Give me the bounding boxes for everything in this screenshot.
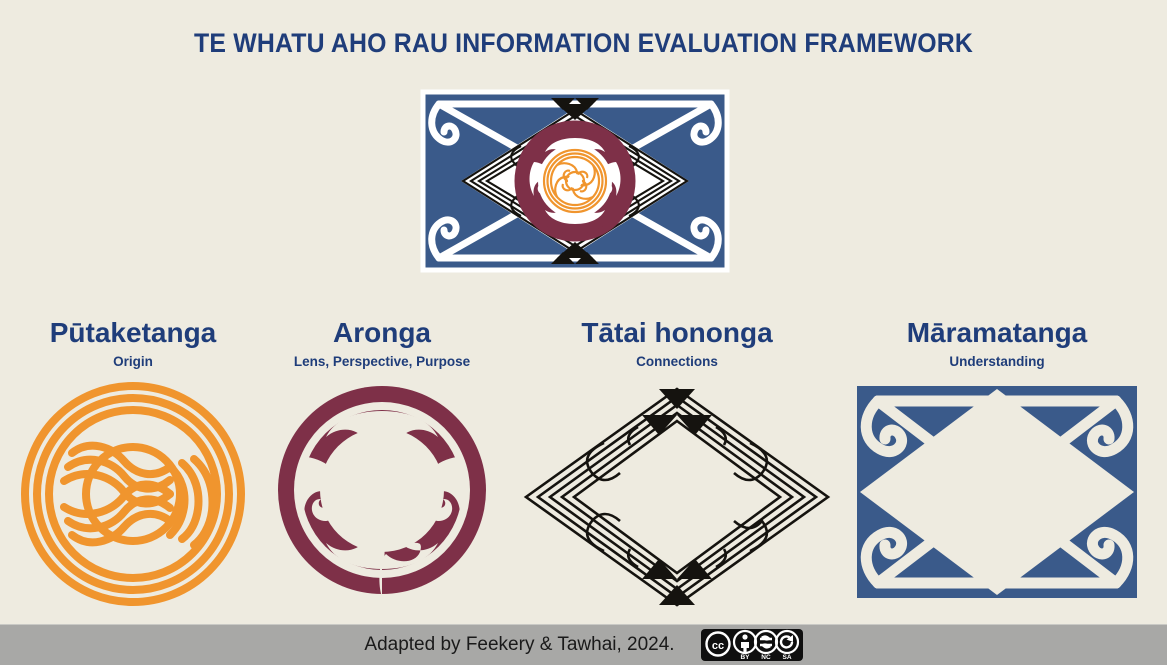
concept-heading: Māramatanga [842, 318, 1152, 347]
cc-by-nc-sa-badge[interactable]: cc BY NC SA [701, 629, 803, 661]
maroon-koru-ring-icon [262, 381, 502, 599]
orange-spiral-circle-icon [8, 381, 258, 607]
footer-bar: Adapted by Feekery & Tawhai, 2024. cc BY… [0, 624, 1167, 665]
blue-diamond-panel-icon [842, 381, 1152, 603]
concept-subtitle: Understanding [842, 354, 1152, 369]
concept-heading: Aronga [262, 318, 502, 347]
svg-text:SA: SA [782, 654, 791, 661]
concept-tatai-hononga[interactable]: Tātai hononga Connections [512, 318, 842, 613]
concept-heading: Pūtaketanga [8, 318, 258, 347]
concept-subtitle: Lens, Perspective, Purpose [262, 354, 502, 369]
svg-text:NC: NC [761, 654, 771, 661]
slide-canvas: TE WHATU AHO RAU INFORMATION EVALUATION … [0, 0, 1167, 664]
composite-emblem [417, 86, 733, 276]
black-diamond-lattice-icon [512, 381, 842, 613]
concept-aronga[interactable]: Aronga Lens, Perspective, Purpose [262, 318, 502, 599]
concept-columns: Pūtaketanga Origin [0, 318, 1167, 618]
concept-putaketanga[interactable]: Pūtaketanga Origin [8, 318, 258, 607]
concept-subtitle: Origin [8, 354, 258, 369]
svg-text:BY: BY [740, 654, 750, 661]
concept-maramatanga[interactable]: Māramatanga Understanding [842, 318, 1152, 603]
page-title: TE WHATU AHO RAU INFORMATION EVALUATION … [47, 28, 1121, 59]
concept-heading: Tātai hononga [512, 318, 842, 347]
svg-text:cc: cc [711, 640, 723, 652]
attribution-text: Adapted by Feekery & Tawhai, 2024. [364, 634, 674, 656]
concept-subtitle: Connections [512, 354, 842, 369]
